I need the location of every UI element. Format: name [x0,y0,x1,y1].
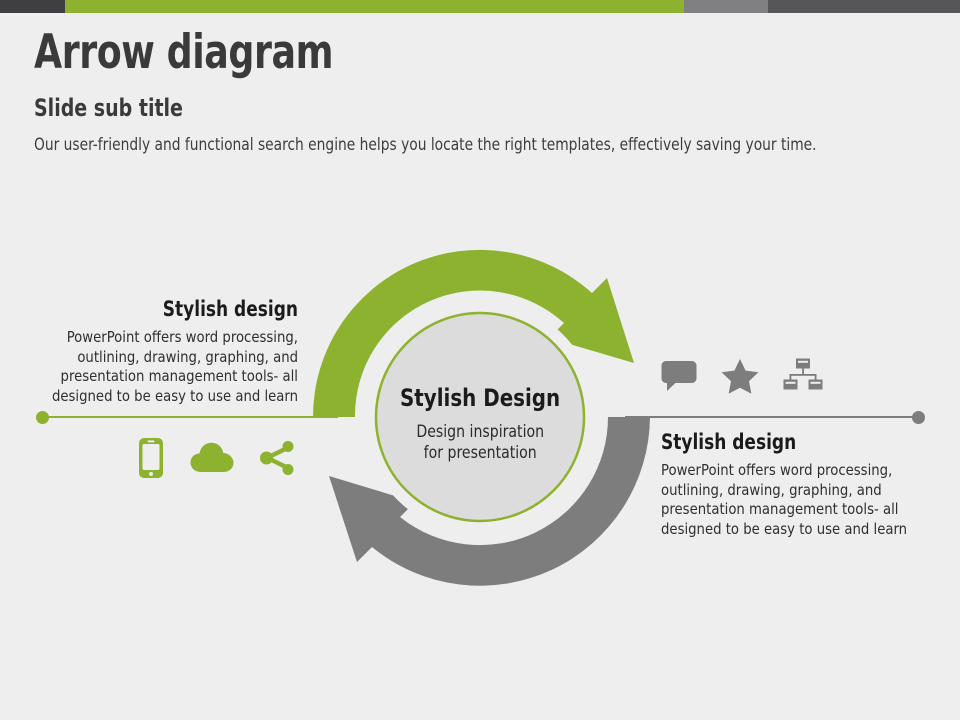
left-block-heading: Stylish design [39,296,298,322]
cloud-icon[interactable] [190,442,234,474]
mobile-phone-icon[interactable] [138,437,164,479]
connector-line-right [625,416,915,418]
page-description: Our user-friendly and functional search … [34,134,852,156]
page-title: Arrow diagram [34,26,333,80]
page-subtitle: Slide sub title [34,93,183,123]
share-icon[interactable] [260,441,296,475]
center-circle-text: Stylish Design Design inspiration for pr… [372,318,588,528]
sitemap-icon[interactable] [783,358,823,394]
right-content-block: Stylish design PowerPoint offers word pr… [661,429,951,539]
topbar-segment-dark-right [768,0,960,13]
left-block-body: PowerPoint offers word processing, outli… [24,328,298,406]
connector-dot-left [36,411,49,424]
topbar-segment-dark-left [0,0,65,13]
top-color-bar [0,0,960,13]
star-icon[interactable] [721,358,759,394]
speech-bubble-icon[interactable] [661,360,697,392]
left-icon-row [138,437,296,479]
connector-dot-right [912,411,925,424]
topbar-segment-green [65,0,684,13]
center-circle-subtitle-line-2: for presentation [416,442,544,463]
center-circle-title: Stylish Design [400,384,560,412]
right-block-body: PowerPoint offers word processing, outli… [661,461,937,539]
right-icon-row [661,358,823,394]
topbar-segment-mid-gray [684,0,768,13]
right-block-heading: Stylish design [661,429,922,455]
center-circle-subtitle: Design inspiration for presentation [416,421,544,463]
left-content-block: Stylish design PowerPoint offers word pr… [10,296,298,406]
connector-line-left [48,416,338,418]
slide-canvas: Arrow diagram Slide sub title Our user-f… [0,0,960,720]
center-circle-subtitle-line-1: Design inspiration [416,421,544,442]
